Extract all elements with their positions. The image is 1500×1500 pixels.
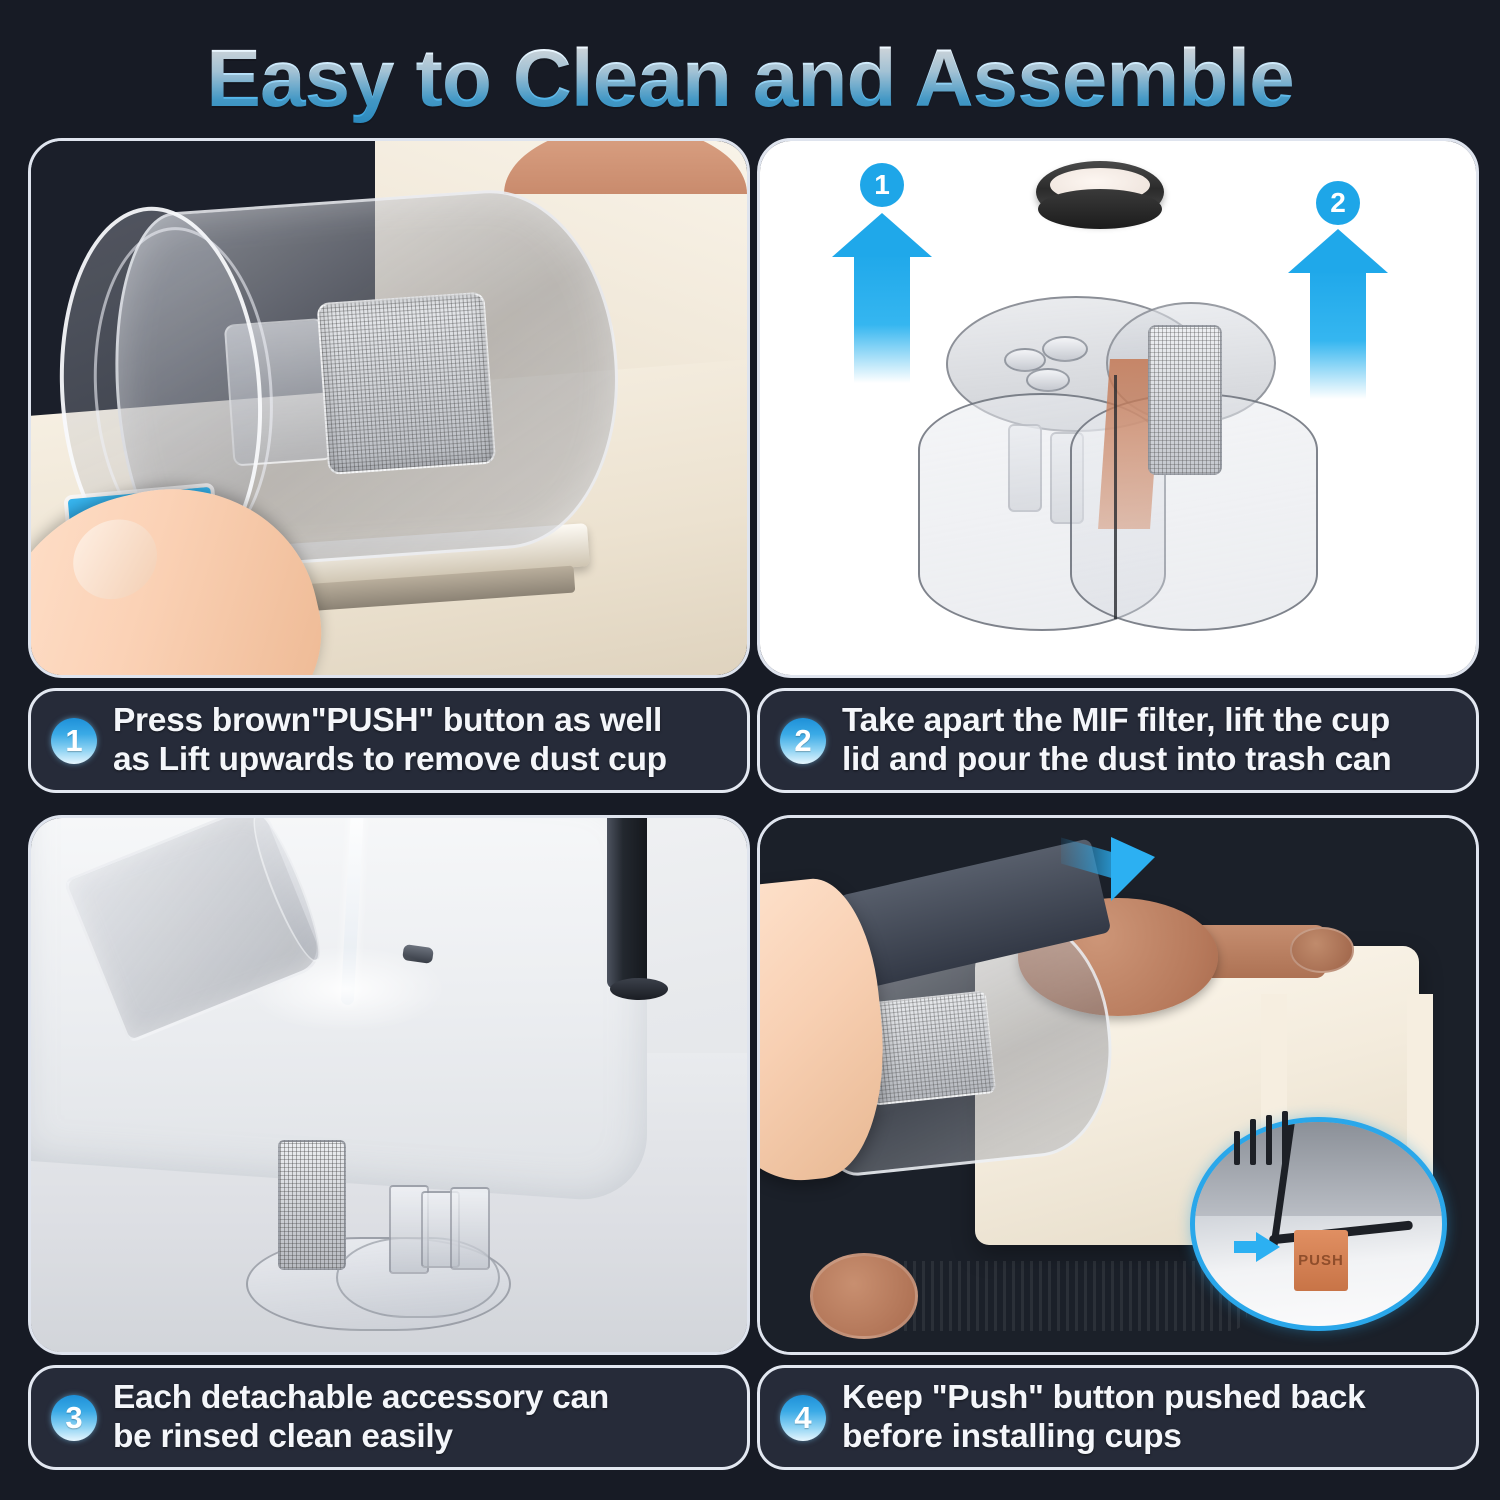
steps-grid: 1 Press brown"PUSH" button as well as Li…	[0, 138, 1500, 1493]
step-card-2: 1 2	[757, 138, 1479, 793]
inset-leader-lines	[1234, 1111, 1304, 1165]
step-4-line-2: before installing cups	[842, 1418, 1365, 1457]
step-2-line-1: Take apart the MIF filter, lift the cup	[842, 702, 1390, 739]
mesh-filter-icon	[278, 1140, 347, 1270]
push-tab[interactable]: PUSH	[1294, 1230, 1349, 1291]
step-badge-3: 3	[51, 1395, 97, 1441]
hepa-filter-ring	[1038, 189, 1162, 229]
step-badge-4: 4	[780, 1395, 826, 1441]
cup-seam-line	[1114, 375, 1117, 619]
step-1-line-2: as Lift upwards to remove dust cup	[113, 741, 667, 780]
step-2-caption: 2 Take apart the MIF filter, lift the cu…	[757, 688, 1479, 793]
step-3-line-2: be rinsed clean easily	[113, 1418, 609, 1457]
dust-cup-part	[918, 393, 1318, 631]
step-1-line-1: Press brown"PUSH" button as well	[113, 702, 662, 739]
step-card-3: 3 Each detachable accessory can be rinse…	[28, 815, 750, 1470]
push-button-inset: PUSH	[1190, 1117, 1448, 1331]
leader-line-2	[1250, 1119, 1256, 1165]
step-card-1: 1 Press brown"PUSH" button as well as Li…	[28, 138, 750, 793]
leader-line-4	[1282, 1111, 1288, 1165]
blue-arrow-icon	[1061, 839, 1181, 899]
vacuum-side-cap	[810, 1253, 917, 1338]
detachable-accessory	[246, 1128, 511, 1331]
up-arrow-icon-2	[1310, 269, 1366, 399]
diagram-callout-2: 2	[1316, 181, 1360, 225]
step-3-line-1: Each detachable accessory can	[113, 1379, 609, 1416]
step-card-4: PUSH 4 Keep "Push" button pushed back be…	[757, 815, 1479, 1470]
step-3-caption: 3 Each detachable accessory can be rinse…	[28, 1365, 750, 1470]
power-button[interactable]	[1290, 927, 1354, 972]
step-3-photo	[28, 815, 750, 1355]
lid-port-2	[1042, 336, 1088, 362]
step-2-line-2: lid and pour the dust into trash can	[842, 741, 1391, 780]
step-3-text: Each detachable accessory can be rinsed …	[113, 1379, 609, 1457]
up-arrow-icon-1	[854, 253, 910, 383]
step-badge-1: 1	[51, 718, 97, 764]
step-1-caption: 1 Press brown"PUSH" button as well as Li…	[28, 688, 750, 793]
diagram-callout-1: 1	[860, 163, 904, 207]
page-title: Easy to Clean and Assemble	[0, 26, 1500, 131]
step-4-photo: PUSH	[757, 815, 1479, 1355]
inset-shadow-region	[1195, 1122, 1443, 1216]
faucet	[607, 815, 647, 989]
inset-arrow-icon	[1234, 1236, 1280, 1258]
step-2-text: Take apart the MIF filter, lift the cup …	[842, 702, 1391, 780]
leader-line-1	[1234, 1131, 1240, 1165]
fingernail	[58, 504, 171, 614]
mesh-filter-icon	[317, 292, 496, 475]
mesh-filter-icon	[1148, 325, 1222, 475]
step-badge-2: 2	[780, 718, 826, 764]
step-1-text: Press brown"PUSH" button as well as Lift…	[113, 702, 667, 780]
lid-port-3	[1026, 368, 1070, 392]
page-title-text: Easy to Clean and Assemble	[206, 32, 1294, 126]
step-1-photo	[28, 138, 750, 678]
leader-line-3	[1266, 1115, 1272, 1165]
step-2-photo: 1 2	[757, 138, 1479, 678]
arrow-head	[1111, 837, 1155, 901]
step-4-text: Keep "Push" button pushed back before in…	[842, 1379, 1365, 1457]
inset-arrow-head	[1256, 1232, 1280, 1262]
step-4-line-1: Keep "Push" button pushed back	[842, 1379, 1365, 1416]
accessory-tube-3	[450, 1187, 490, 1270]
step-4-caption: 4 Keep "Push" button pushed back before …	[757, 1365, 1479, 1470]
